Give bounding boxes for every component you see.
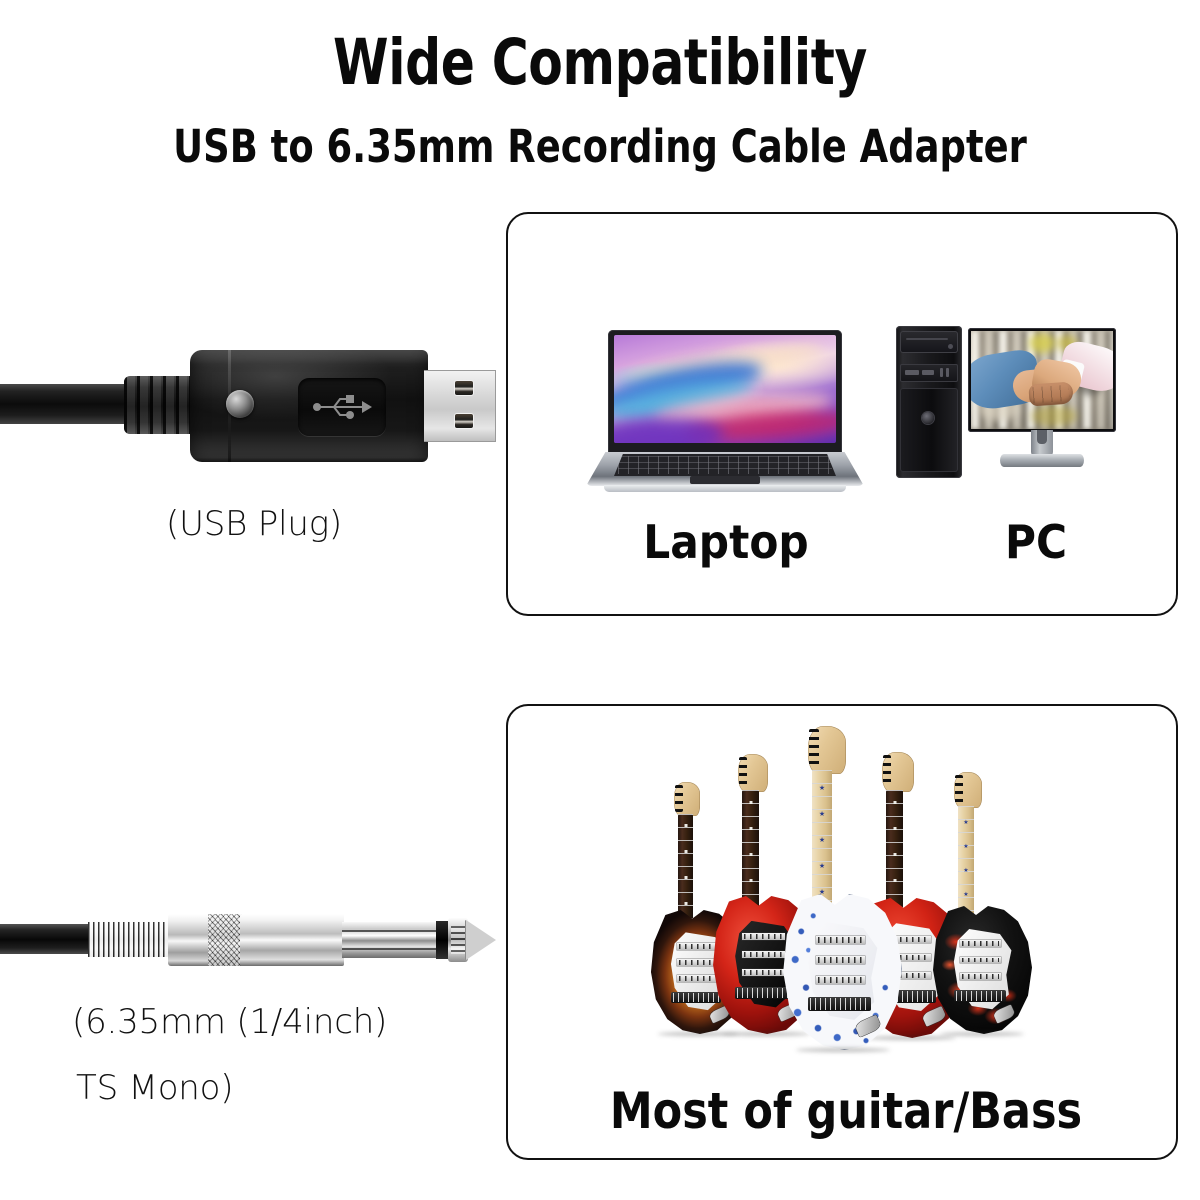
jack-cable [0,924,92,954]
jack-plug-caption-line1: (6.35mm (1/4inch) [72,1002,387,1042]
usb-trident-icon [298,378,386,436]
laptop-screen [614,335,836,443]
guitar-headstock [738,754,768,792]
pc-label: PC [957,515,1115,569]
laptop-icon [586,330,864,500]
jack-plug-illustration [0,896,500,986]
power-button-icon [922,412,934,424]
handshake-fingers [1028,381,1073,406]
monitor-icon [968,328,1116,474]
infographic-canvas: Wide Compatibility USB to 6.35mm Recordi… [0,0,1200,1200]
front-ports [900,364,958,382]
monitor-stand-neck [1031,430,1053,456]
usb-cable [0,384,130,424]
usb-contact [454,380,474,396]
jack-knurled-grip [208,914,244,966]
laptop-keyboard [614,454,836,476]
laptop-lid [608,330,842,458]
laptop-front-edge [604,485,846,492]
guitar-body [932,906,1032,1034]
optical-drive-bay [900,331,958,353]
guitars-label: Most of guitar/Bass [605,1082,1087,1140]
tower-front-panel [900,388,958,472]
usb-plug-illustration [0,336,500,476]
guitar-headstock [808,726,846,774]
guitar-headstock [882,752,914,792]
guitar-headstock [954,772,982,808]
guitar-body [782,894,902,1050]
page-subtitle: USB to 6.35mm Recording Cable Adapter [108,120,1092,173]
page-title: Wide Compatibility [120,26,1080,99]
usb-contact [454,413,474,429]
desktop-tower-icon [896,326,962,478]
monitor-screen [971,331,1113,429]
jack-plug-caption-line2: TS Mono) [76,1068,233,1108]
monitor-stand-base [1000,454,1084,467]
laptop-touchpad [690,476,760,484]
usb-screw-icon [226,390,254,418]
usb-strain-relief [124,376,200,434]
jack-spring-strain-relief [88,922,170,957]
jack-barrel [240,914,344,966]
guitar-headstock [674,782,700,816]
jack-conical-tip [466,920,496,960]
guitar-group-illustration: ★★★★★★ [650,726,1070,1058]
usb-metal-connector [424,370,496,442]
laptop-label: Laptop [610,515,842,569]
jack-shaft [342,922,440,958]
monitor-bezel [968,328,1116,432]
jack-tip-collar [448,918,468,962]
usb-plug-caption: (USB Plug) [166,504,342,544]
